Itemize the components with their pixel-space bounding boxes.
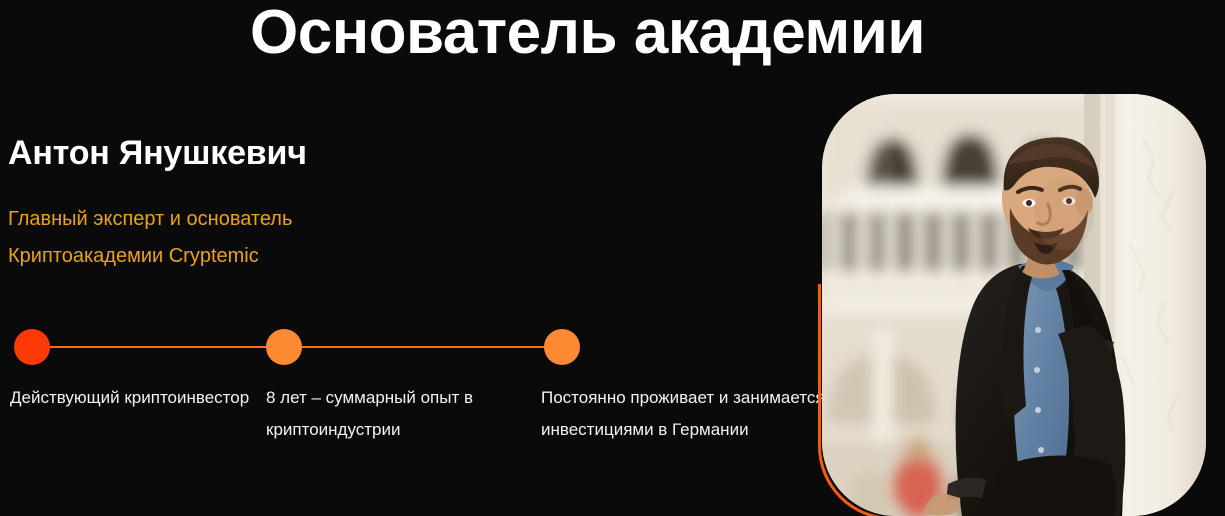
founder-name: Антон Янушкевич — [8, 132, 828, 174]
timeline-node-1 — [14, 329, 50, 365]
founder-portrait-image — [822, 94, 1206, 516]
timeline-label-2: 8 лет – суммарный опыт в криптоиндустрии — [266, 382, 531, 446]
founder-role-line-1: Главный эксперт и основатель — [8, 201, 408, 238]
founder-role-line-2: Криптоакадемии Cryptemic — [8, 238, 408, 275]
founder-bio-block: Антон Янушкевич Главный эксперт и основа… — [8, 132, 828, 275]
timeline-node-3 — [544, 329, 580, 365]
timeline-label-1: Действующий криптоинвестор — [10, 382, 260, 414]
timeline-node-2 — [266, 329, 302, 365]
founder-portrait-illustration — [822, 94, 1206, 516]
founder-portrait — [822, 94, 1206, 516]
founder-role: Главный эксперт и основатель Криптоакаде… — [8, 201, 408, 275]
page-title: Основатель академии — [0, 0, 1175, 70]
achievements-timeline: Действующий криптоинвестор 8 лет – сумма… — [0, 329, 840, 509]
timeline-label-3: Постоянно проживает и занимается инвести… — [541, 382, 831, 446]
